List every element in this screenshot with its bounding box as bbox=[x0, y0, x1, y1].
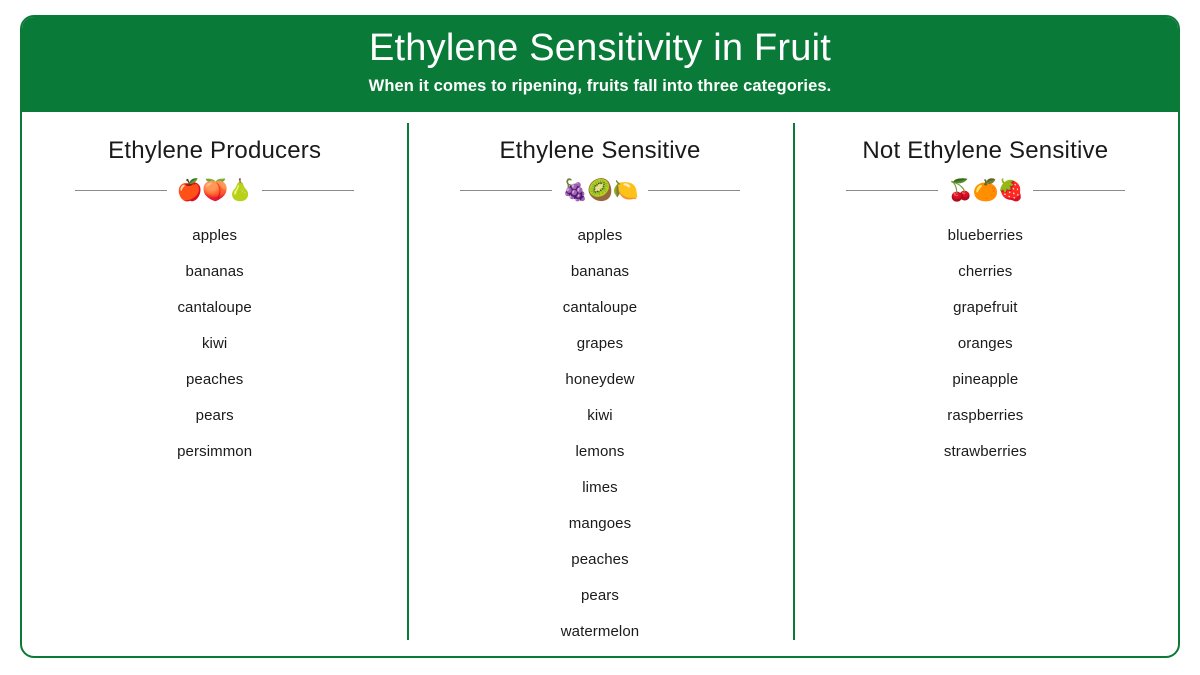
list-item: kiwi bbox=[407, 398, 792, 434]
divider-rule-right bbox=[262, 190, 354, 192]
grapes-icon: 🍇 bbox=[562, 180, 587, 201]
header-banner: Ethylene Sensitivity in Fruit When it co… bbox=[22, 17, 1178, 112]
strawberry-icon: 🍓 bbox=[998, 180, 1023, 201]
category-columns: Ethylene Producers 🍎 🍑 🍐 apples bananas … bbox=[22, 112, 1178, 656]
list-item: peaches bbox=[22, 362, 407, 398]
list-item: watermelon bbox=[407, 614, 792, 650]
list-item: limes bbox=[407, 470, 792, 506]
list-item: lemons bbox=[407, 434, 792, 470]
list-item: apples bbox=[22, 218, 407, 254]
list-item: blueberries bbox=[793, 218, 1178, 254]
list-item: grapefruit bbox=[793, 290, 1178, 326]
infographic-card: Ethylene Sensitivity in Fruit When it co… bbox=[20, 15, 1180, 658]
list-item: bananas bbox=[22, 254, 407, 290]
orange-icon: 🍊 bbox=[973, 180, 998, 201]
list-item: honeydew bbox=[407, 362, 792, 398]
list-item: pears bbox=[22, 398, 407, 434]
list-item: bananas bbox=[407, 254, 792, 290]
column-divider: 🍇 🥝 🍋 bbox=[407, 180, 792, 201]
list-item: cantaloupe bbox=[22, 290, 407, 326]
column-title: Ethylene Producers bbox=[22, 137, 407, 166]
divider-rule-left bbox=[460, 190, 552, 192]
column-icon-group: 🍎 🍑 🍐 bbox=[167, 180, 262, 201]
list-item: grapes bbox=[407, 326, 792, 362]
column-title: Not Ethylene Sensitive bbox=[793, 137, 1178, 166]
list-item: mangoes bbox=[407, 506, 792, 542]
lemon-lime-icon: 🍋 bbox=[613, 180, 638, 201]
pear-icon: 🍐 bbox=[227, 180, 252, 201]
infographic-canvas: Ethylene Sensitivity in Fruit When it co… bbox=[0, 0, 1200, 675]
list-item: pineapple bbox=[793, 362, 1178, 398]
column-icon-group: 🍇 🥝 🍋 bbox=[552, 180, 647, 201]
fruit-list: apples bananas cantaloupe grapes honeyde… bbox=[407, 218, 792, 650]
list-item: peaches bbox=[407, 542, 792, 578]
apple-icon: 🍎 bbox=[177, 180, 202, 201]
list-item: strawberries bbox=[793, 434, 1178, 470]
cherries-icon: 🍒 bbox=[948, 180, 973, 201]
divider-rule-right bbox=[648, 190, 740, 192]
column-ethylene-sensitive: Ethylene Sensitive 🍇 🥝 🍋 apples bananas … bbox=[407, 112, 792, 656]
divider-rule-left bbox=[75, 190, 167, 192]
fruit-list: apples bananas cantaloupe kiwi peaches p… bbox=[22, 218, 407, 470]
column-icon-group: 🍒 🍊 🍓 bbox=[938, 180, 1033, 201]
column-divider: 🍎 🍑 🍐 bbox=[22, 180, 407, 201]
column-title: Ethylene Sensitive bbox=[407, 137, 792, 166]
list-item: oranges bbox=[793, 326, 1178, 362]
page-title: Ethylene Sensitivity in Fruit bbox=[369, 29, 831, 69]
list-item: cherries bbox=[793, 254, 1178, 290]
divider-rule-left bbox=[846, 190, 938, 192]
list-item: raspberries bbox=[793, 398, 1178, 434]
fruit-list: blueberries cherries grapefruit oranges … bbox=[793, 218, 1178, 470]
list-item: apples bbox=[407, 218, 792, 254]
peach-icon: 🍑 bbox=[202, 180, 227, 201]
page-subtitle: When it comes to ripening, fruits fall i… bbox=[369, 77, 832, 96]
list-item: cantaloupe bbox=[407, 290, 792, 326]
column-ethylene-producers: Ethylene Producers 🍎 🍑 🍐 apples bananas … bbox=[22, 112, 407, 656]
column-divider: 🍒 🍊 🍓 bbox=[793, 180, 1178, 201]
list-item: persimmon bbox=[22, 434, 407, 470]
list-item: pears bbox=[407, 578, 792, 614]
divider-rule-right bbox=[1033, 190, 1125, 192]
column-not-ethylene-sensitive: Not Ethylene Sensitive 🍒 🍊 🍓 blueberries… bbox=[793, 112, 1178, 656]
kiwi-icon: 🥝 bbox=[587, 180, 612, 201]
list-item: kiwi bbox=[22, 326, 407, 362]
